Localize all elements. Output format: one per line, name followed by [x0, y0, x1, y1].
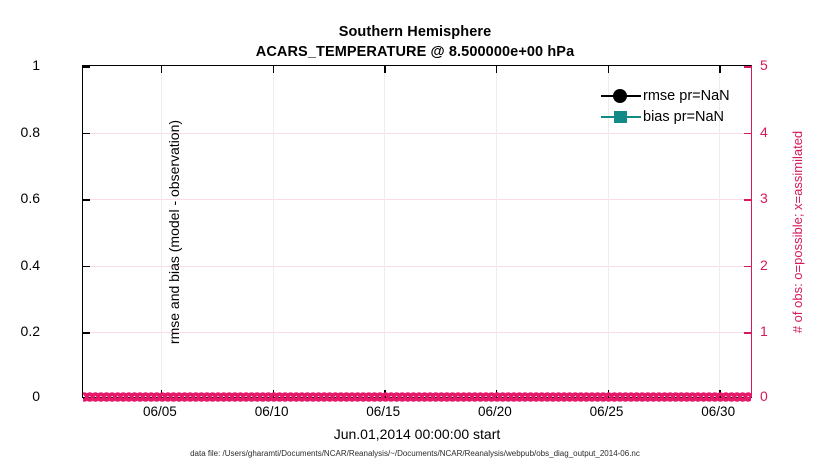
- y2-axis-tick: [744, 66, 751, 68]
- gridline-horizontal: [83, 332, 751, 333]
- y-axis-tick: [83, 133, 90, 135]
- y-axis-tick-label: 0.2: [21, 323, 40, 339]
- gridline-vertical: [161, 66, 162, 397]
- legend-marker-rmse: [601, 85, 641, 106]
- x-axis-tick: [273, 390, 275, 397]
- y2-axis-tick-label: 1: [760, 323, 768, 339]
- obs-count-marker-band: [83, 388, 751, 406]
- y2-axis-title: # of obs: o=possible; x=assimilated: [790, 62, 805, 402]
- y-axis-tick: [83, 266, 90, 268]
- y-axis-tick-label: 0.6: [21, 190, 40, 206]
- y2-axis-tick: [744, 199, 751, 201]
- x-axis-tick-top: [161, 66, 163, 73]
- y-axis-tick-label: 0.4: [21, 257, 40, 273]
- y-axis-tick-label: 0: [32, 388, 40, 404]
- x-axis-tick: [161, 390, 163, 397]
- chart-title: Southern Hemisphere ACARS_TEMPERATURE @ …: [0, 22, 830, 62]
- y-axis-tick: [83, 199, 90, 201]
- gridline-horizontal: [83, 199, 751, 200]
- x-axis-tick-top: [384, 66, 386, 73]
- y-axis-tick: [83, 66, 90, 68]
- x-axis-tick-label: 06/25: [590, 404, 624, 419]
- legend-item-rmse[interactable]: rmse pr=NaN: [601, 85, 730, 106]
- x-axis-tick: [384, 390, 386, 397]
- y-axis-tick: [83, 332, 90, 334]
- gridline-horizontal: [83, 133, 751, 134]
- y2-axis-tick-label: 5: [760, 57, 768, 73]
- gridline-vertical: [384, 66, 385, 397]
- x-axis-tick-label: 06/05: [143, 404, 177, 419]
- y2-axis-tick: [744, 397, 751, 399]
- gridline-horizontal: [83, 266, 751, 267]
- y2-axis-tick-label: 2: [760, 257, 768, 273]
- y-axis-tick-label: 1: [32, 57, 40, 73]
- gridline-vertical: [273, 66, 274, 397]
- y2-axis-tick: [744, 266, 751, 268]
- y2-axis-tick: [744, 332, 751, 334]
- y-axis-tick-label: 0.8: [21, 124, 40, 140]
- legend-item-bias[interactable]: bias pr=NaN: [601, 106, 730, 127]
- y2-axis-tick-label: 0: [760, 388, 768, 404]
- x-axis-tick-top: [273, 66, 275, 73]
- x-axis-tick-top: [608, 66, 610, 73]
- legend-label-rmse: rmse pr=NaN: [641, 88, 730, 104]
- chart-title-line1: Southern Hemisphere: [0, 22, 830, 42]
- y2-axis-tick-label: 4: [760, 124, 768, 140]
- x-axis-tick: [719, 390, 721, 397]
- y-axis-tick: [83, 397, 90, 399]
- chart-title-line2: ACARS_TEMPERATURE @ 8.500000e+00 hPa: [0, 42, 830, 62]
- x-axis-tick: [496, 390, 498, 397]
- data-file-caption: data file: /Users/gharamti/Documents/NCA…: [0, 449, 830, 458]
- y2-axis-tick: [744, 133, 751, 135]
- x-axis-tick-label: 06/20: [478, 404, 512, 419]
- x-axis-tick-label: 06/10: [255, 404, 289, 419]
- chart-legend: rmse pr=NaN bias pr=NaN: [601, 85, 730, 127]
- gridline-vertical: [496, 66, 497, 397]
- x-axis-title: Jun.01,2014 00:00:00 start: [82, 426, 752, 442]
- plot-area: rmse pr=NaN bias pr=NaN: [82, 65, 752, 398]
- y-axis-title: rmse and bias (model - observation): [166, 62, 182, 402]
- x-axis-tick-top: [496, 66, 498, 73]
- legend-label-bias: bias pr=NaN: [641, 109, 724, 125]
- x-axis-tick: [608, 390, 610, 397]
- x-axis-tick-top: [719, 66, 721, 73]
- y2-axis-tick-label: 3: [760, 190, 768, 206]
- x-axis-tick-label: 06/30: [701, 404, 735, 419]
- x-axis-tick-label: 06/15: [366, 404, 400, 419]
- legend-marker-bias: [601, 106, 641, 127]
